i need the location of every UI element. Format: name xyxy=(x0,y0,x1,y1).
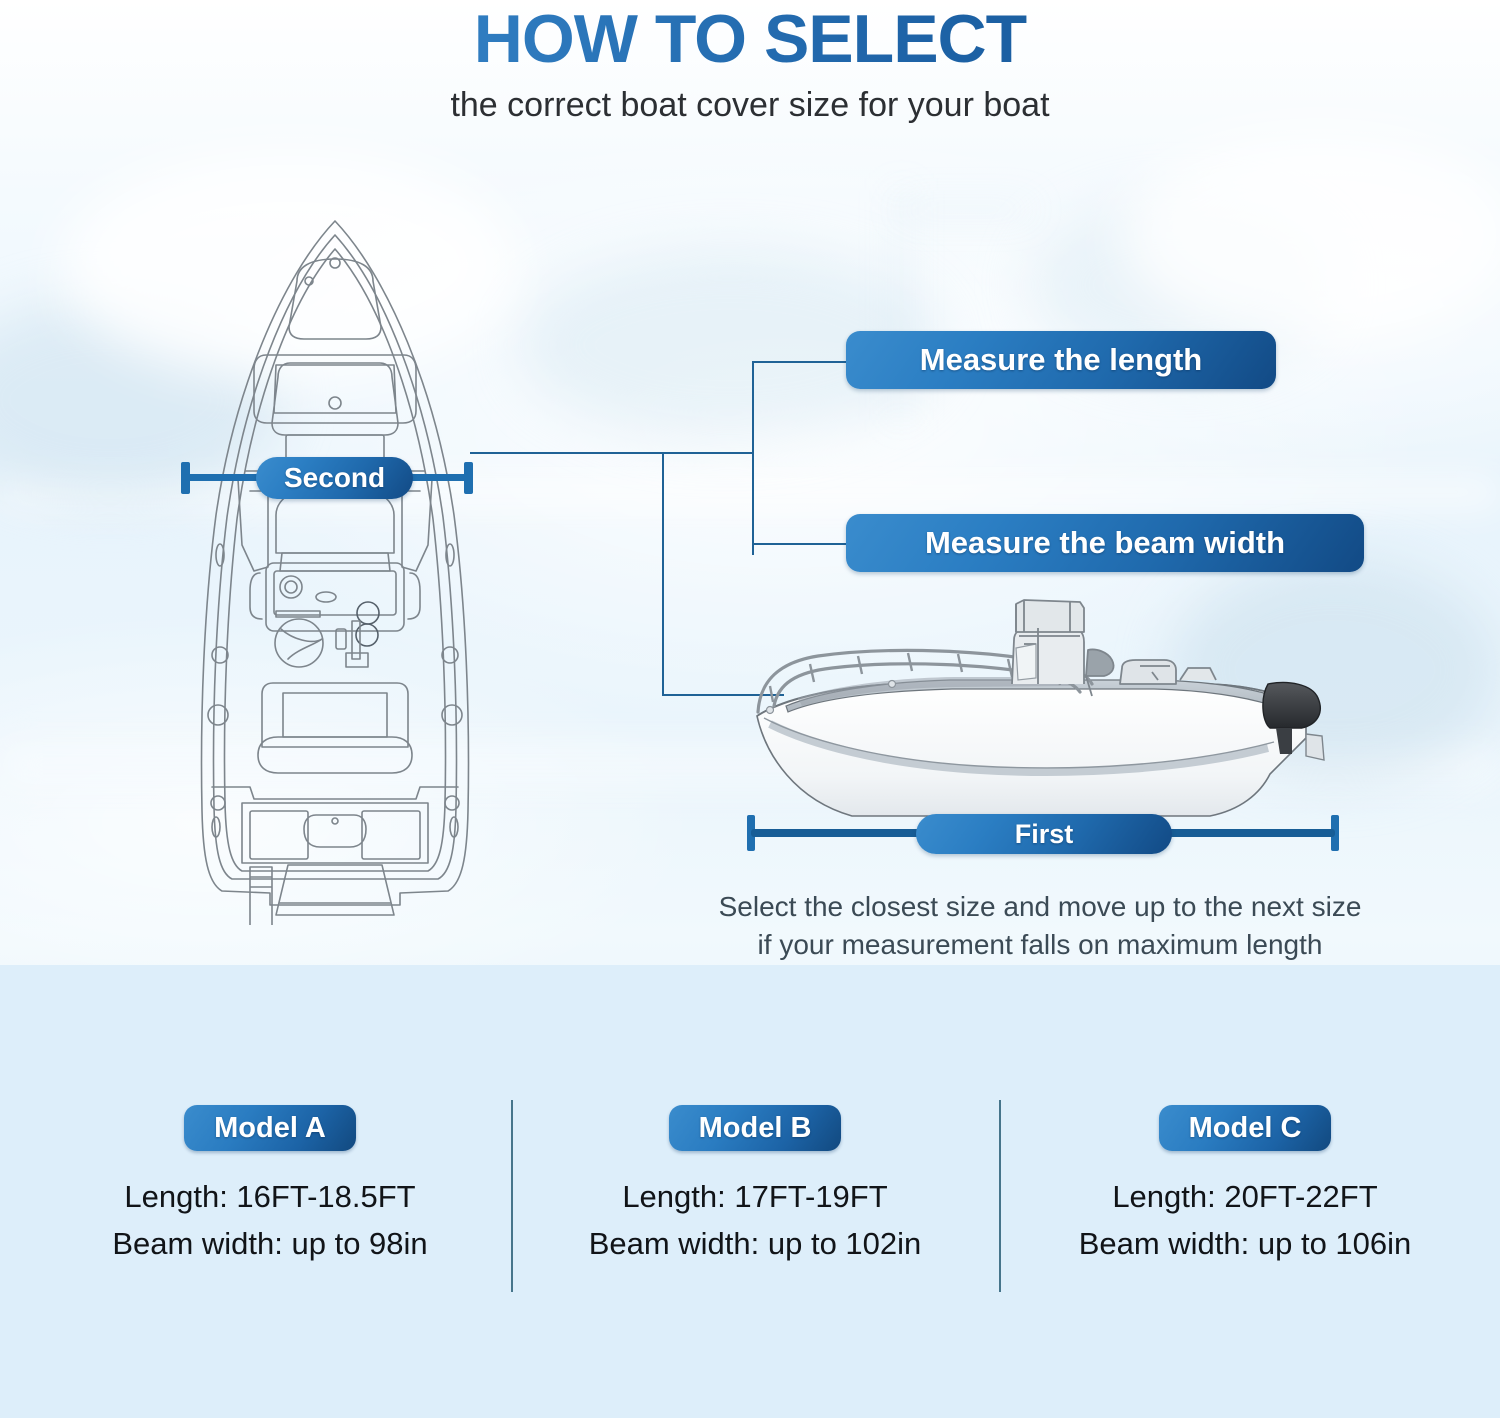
connector-bracket-vertical xyxy=(752,361,754,555)
model-b-badge[interactable]: Model B xyxy=(669,1105,842,1151)
callout-measure-length[interactable]: Measure the length xyxy=(846,331,1276,389)
connector-bracket-to-length xyxy=(752,361,852,363)
beam-measure-label: Second xyxy=(256,457,413,499)
page-subtitle: the correct boat cover size for your boa… xyxy=(0,84,1500,126)
sizing-note-line-1: Select the closest size and move up to t… xyxy=(700,888,1380,926)
model-column-c: Model C Length: 20FT-22FT Beam width: up… xyxy=(1020,1105,1470,1267)
model-c-name: Model C xyxy=(1189,1112,1302,1145)
sizing-note: Select the closest size and move up to t… xyxy=(700,888,1380,964)
infographic-page: HOW TO SELECT the correct boat cover siz… xyxy=(0,0,1500,1418)
background-mast-boom xyxy=(900,208,1032,211)
side-view-boat xyxy=(740,588,1340,833)
top-view-boat xyxy=(150,215,520,925)
model-c-beam: Beam width: up to 106in xyxy=(1020,1220,1470,1267)
model-divider-1 xyxy=(511,1100,513,1292)
connector-bracket-to-beam xyxy=(752,543,852,545)
model-c-badge[interactable]: Model C xyxy=(1159,1105,1332,1151)
model-a-beam: Beam width: up to 98in xyxy=(50,1220,490,1267)
model-a-length: Length: 16FT-18.5FT xyxy=(50,1173,490,1220)
model-b-name: Model B xyxy=(699,1112,812,1145)
callout-measure-length-text: Measure the length xyxy=(920,342,1203,378)
model-a-name: Model A xyxy=(214,1112,326,1145)
page-title: HOW TO SELECT xyxy=(0,2,1500,76)
model-column-b: Model B Length: 17FT-19FT Beam width: up… xyxy=(540,1105,970,1267)
model-size-panel: Model A Length: 16FT-18.5FT Beam width: … xyxy=(0,965,1500,1418)
model-divider-2 xyxy=(999,1100,1001,1292)
connector-trunk-junction xyxy=(662,452,754,454)
callout-measure-beam-width[interactable]: Measure the beam width xyxy=(846,514,1364,572)
sizing-note-line-2: if your measurement falls on maximum len… xyxy=(700,926,1380,964)
connector-beam-to-trunk xyxy=(470,452,664,454)
model-a-badge[interactable]: Model A xyxy=(184,1105,356,1151)
length-measure-label-text: First xyxy=(1015,819,1074,850)
beam-measure-label-text: Second xyxy=(284,462,385,494)
model-b-beam: Beam width: up to 102in xyxy=(540,1220,970,1267)
model-column-a: Model A Length: 16FT-18.5FT Beam width: … xyxy=(50,1105,490,1267)
length-measure-label: First xyxy=(916,814,1172,854)
model-c-length: Length: 20FT-22FT xyxy=(1020,1173,1470,1220)
model-b-length: Length: 17FT-19FT xyxy=(540,1173,970,1220)
connector-trunk-vertical xyxy=(662,452,664,695)
background-cloud-right xyxy=(1120,130,1500,340)
callout-measure-beam-width-text: Measure the beam width xyxy=(925,525,1285,561)
